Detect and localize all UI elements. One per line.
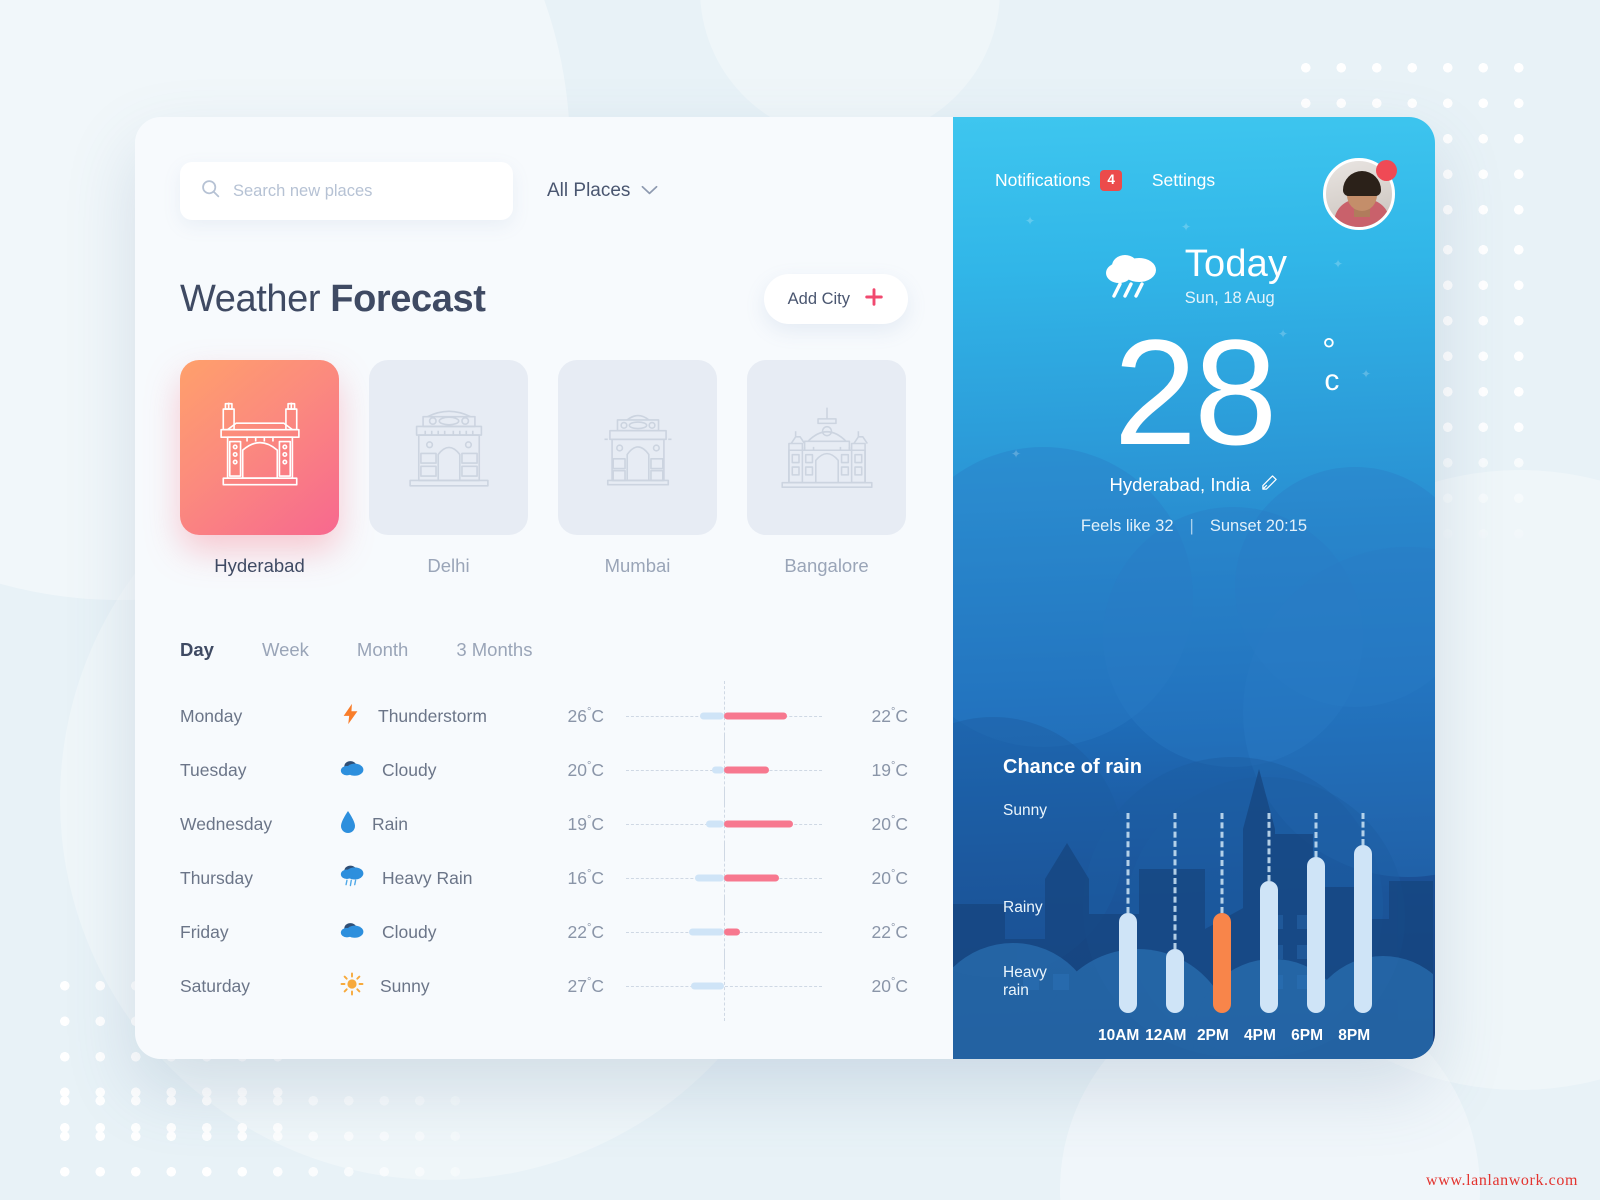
settings-link[interactable]: Settings — [1152, 170, 1215, 191]
forecast-range-bar — [626, 959, 822, 1013]
city-tile — [369, 360, 528, 535]
forecast-condition: Heavy Rain — [340, 863, 540, 894]
forecast-high: 22°C — [844, 706, 908, 727]
chart-xlabel: 10AM — [1098, 1027, 1139, 1045]
today-label: Today — [1185, 243, 1287, 286]
chart-xlabel: 4PM — [1244, 1027, 1276, 1045]
chart-y-axis: Sunny Rainy Heavy rain — [1003, 813, 1081, 1013]
forecast-high: 22°C — [844, 922, 908, 943]
page-title: Weather Forecast — [180, 278, 486, 321]
tab-3-months[interactable]: 3 Months — [456, 639, 532, 661]
city-tile — [558, 360, 717, 535]
forecast-condition: Rain — [340, 810, 540, 839]
left-panel: All Places Weather Forecast Add City — [135, 117, 953, 1059]
vidhana-soudha-icon — [771, 392, 883, 504]
city-tile — [180, 360, 339, 535]
forecast-list: Monday Thunderstorm 26°C 22°C Tuesday — [135, 661, 953, 1013]
settings-label: Settings — [1152, 170, 1215, 191]
current-location: Hyderabad, India — [953, 474, 1435, 496]
chance-of-rain-chart: Chance of rain Sunny Rainy Heavy rain — [1003, 756, 1395, 1013]
city-name: Delhi — [369, 555, 528, 577]
forecast-low: 19°C — [540, 814, 604, 835]
forecast-day: Thursday — [180, 868, 340, 889]
search-icon — [200, 178, 221, 204]
city-card-delhi[interactable]: Delhi — [369, 360, 528, 577]
forecast-day: Friday — [180, 922, 340, 943]
right-panel: ✦ ✦ ✦ ✦ ✦ ✦ Notifications 4 Settings — [953, 117, 1435, 1059]
unit-letter: c — [1324, 366, 1336, 396]
chart-title: Chance of rain — [1003, 756, 1395, 779]
rain-cloud-icon — [1101, 246, 1165, 305]
chart-ylabel-heavy-rain: Heavy rain — [1003, 964, 1065, 1001]
current-meta: Feels like 32|Sunset 20:15 — [953, 517, 1435, 536]
forecast-condition: Sunny — [340, 972, 540, 1001]
notifications-link[interactable]: Notifications 4 — [995, 170, 1122, 191]
forecast-condition-label: Heavy Rain — [382, 868, 472, 889]
chart-xlabel: 6PM — [1291, 1027, 1323, 1045]
city-tile — [747, 360, 906, 535]
cloud-icon — [340, 758, 366, 783]
forecast-low: 22°C — [540, 922, 604, 943]
page-title-light: Weather — [180, 278, 330, 320]
chart-plot-area: 10AM 12AM 2PM 4PM 6PM 8PM — [1081, 813, 1395, 1013]
chart-xlabel: 12AM — [1145, 1027, 1186, 1045]
add-city-label: Add City — [788, 290, 850, 309]
forecast-condition-label: Cloudy — [382, 760, 436, 781]
rain-cloud-icon — [340, 863, 366, 894]
table-row: Friday Cloudy 22°C — [180, 905, 908, 959]
today-text: Today Sun, 18 Aug — [1185, 243, 1287, 308]
gateway-of-india-icon — [584, 394, 692, 502]
forecast-day: Saturday — [180, 976, 340, 997]
forecast-condition-label: Thunderstorm — [378, 706, 487, 727]
chart-xlabel: 8PM — [1338, 1027, 1370, 1045]
forecast-high: 20°C — [844, 868, 908, 889]
sun-icon — [340, 972, 364, 1001]
plus-icon — [864, 287, 884, 312]
watermark: www.lanlanwork.com — [1426, 1172, 1578, 1190]
page-title-bold: Forecast — [330, 278, 485, 320]
city-card-mumbai[interactable]: Mumbai — [558, 360, 717, 577]
table-row: Wednesday Rain 19°C 20°C — [180, 797, 908, 851]
meta-separator: | — [1190, 517, 1194, 536]
table-row: Monday Thunderstorm 26°C 22°C — [180, 689, 908, 743]
sunset: Sunset 20:15 — [1210, 517, 1307, 535]
search-row: All Places — [135, 162, 953, 220]
forecast-condition: Cloudy — [340, 758, 540, 783]
forecast-day: Wednesday — [180, 814, 340, 835]
forecast-condition-label: Rain — [372, 814, 408, 835]
forecast-day: Tuesday — [180, 760, 340, 781]
places-filter-label: All Places — [547, 180, 630, 202]
search-box[interactable] — [180, 162, 513, 220]
temperature-unit: ° c — [1318, 334, 1336, 396]
cloud-icon — [340, 920, 366, 945]
tab-week[interactable]: Week — [262, 639, 309, 661]
table-row: Tuesday Cloudy 20°C — [180, 743, 908, 797]
forecast-condition: Cloudy — [340, 920, 540, 945]
city-card-bangalore[interactable]: Bangalore — [747, 360, 906, 577]
charminar-icon — [206, 394, 314, 502]
forecast-high: 20°C — [844, 976, 908, 997]
india-gate-icon — [395, 394, 503, 502]
tab-month[interactable]: Month — [357, 639, 408, 661]
chart-xlabel: 2PM — [1197, 1027, 1229, 1045]
city-name: Bangalore — [747, 555, 906, 577]
dot-pattern-bottom — [47, 1083, 477, 1198]
city-name: Hyderabad — [180, 555, 339, 577]
current-location-label: Hyderabad, India — [1110, 474, 1251, 496]
forecast-high: 19°C — [844, 760, 908, 781]
forecast-day: Monday — [180, 706, 340, 727]
droplet-icon — [340, 810, 356, 839]
city-list: Hyderabad — [135, 324, 953, 577]
feels-like: Feels like 32 — [1081, 517, 1174, 535]
city-card-hyderabad[interactable]: Hyderabad — [180, 360, 339, 577]
forecast-low: 20°C — [540, 760, 604, 781]
tab-day[interactable]: Day — [180, 639, 214, 661]
search-input[interactable] — [233, 182, 473, 201]
notifications-badge: 4 — [1100, 170, 1122, 191]
right-top-nav: Notifications 4 Settings — [953, 117, 1435, 191]
forecast-low: 16°C — [540, 868, 604, 889]
forecast-condition: Thunderstorm — [340, 702, 540, 731]
forecast-low: 27°C — [540, 976, 604, 997]
chart-body: Sunny Rainy Heavy rain — [1003, 813, 1395, 1013]
title-row: Weather Forecast Add City — [135, 220, 953, 324]
places-filter-dropdown[interactable]: All Places — [547, 180, 658, 202]
chart-ylabel-sunny: Sunny — [1003, 802, 1047, 821]
table-row: Saturday Sunny — [180, 959, 908, 1013]
notifications-label: Notifications — [995, 170, 1090, 191]
forecast-low: 26°C — [540, 706, 604, 727]
forecast-condition-label: Cloudy — [382, 922, 436, 943]
city-name: Mumbai — [558, 555, 717, 577]
add-city-button[interactable]: Add City — [764, 274, 908, 324]
table-row: Thursday Heavy Rain — [180, 851, 908, 905]
today-summary: Today Sun, 18 Aug 28 ° c Hyderabad, Indi… — [953, 243, 1435, 536]
today-date: Sun, 18 Aug — [1185, 289, 1287, 308]
lightning-icon — [340, 702, 362, 731]
chevron-down-icon — [641, 180, 658, 202]
forecast-condition-label: Sunny — [380, 976, 430, 997]
chart-x-axis: 10AM 12AM 2PM 4PM 6PM 8PM — [1081, 1027, 1395, 1047]
range-tabs: Day Week Month 3 Months — [135, 577, 953, 661]
forecast-high: 20°C — [844, 814, 908, 835]
current-temperature-value: 28 — [1114, 308, 1275, 476]
edit-pencil-icon[interactable] — [1261, 474, 1278, 496]
chart-ylabel-rainy: Rainy — [1003, 899, 1043, 918]
today-header: Today Sun, 18 Aug — [953, 243, 1435, 308]
current-temperature: 28 ° c — [1114, 314, 1275, 472]
dashboard-card: All Places Weather Forecast Add City — [135, 117, 1435, 1059]
